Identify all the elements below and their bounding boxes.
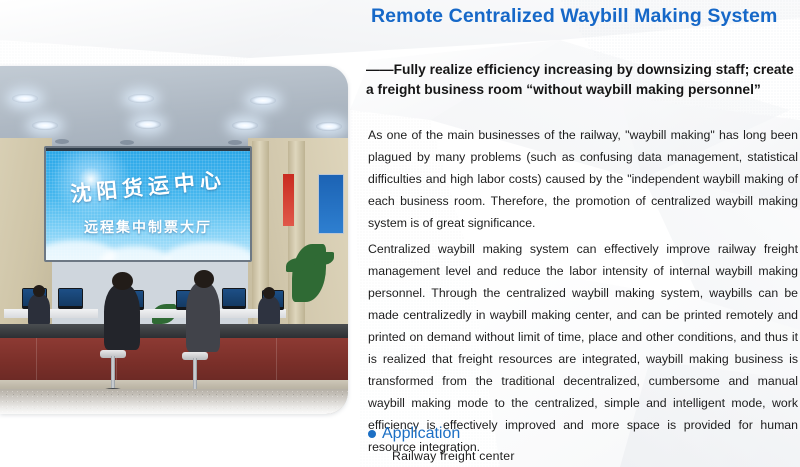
ceiling-light	[250, 96, 276, 105]
body-paragraph-1: As one of the main businesses of the rai…	[368, 124, 798, 234]
stool-pole	[193, 358, 197, 392]
subtitle: ——Fully realize efficiency increasing by…	[366, 60, 800, 99]
staff-head	[33, 285, 45, 297]
ceiling-light	[135, 120, 161, 129]
photo-inner: 沈阳货运中心 远程集中制票大厅	[0, 66, 348, 414]
application-item: Railway freight center	[392, 449, 515, 463]
staff-head	[263, 287, 275, 299]
counter-top	[0, 324, 348, 338]
ceiling-light	[316, 122, 342, 131]
ceiling-vent	[120, 140, 134, 145]
counter-seam	[276, 338, 277, 380]
monitor-screen	[223, 289, 245, 306]
pillar	[288, 141, 305, 346]
ceiling-light	[232, 121, 258, 130]
seated-customer	[104, 284, 140, 350]
monitor	[222, 288, 246, 309]
wall-poster	[318, 174, 344, 234]
seated-customer	[186, 282, 220, 352]
counter-seam	[36, 338, 37, 380]
stool-pole	[111, 356, 115, 390]
ceiling-vent	[55, 139, 69, 144]
red-banner	[283, 174, 294, 226]
application-heading: Application	[368, 425, 460, 443]
ceiling-light	[12, 94, 38, 103]
led-display-frame	[44, 146, 252, 262]
slide-page: 沈阳货运中心 远程集中制票大厅	[0, 0, 800, 467]
inner-desk	[4, 309, 98, 318]
staff-member	[258, 296, 280, 326]
ceiling-light	[128, 94, 154, 103]
content-pane: Remote Centralized Waybill Making System…	[366, 0, 800, 467]
customer-head	[194, 270, 214, 288]
application-heading-label: Application	[382, 425, 460, 443]
page-title: Remote Centralized Waybill Making System	[371, 5, 799, 28]
ceiling-vent	[228, 140, 242, 145]
monitor-screen	[59, 289, 82, 306]
office-hall-photo: 沈阳货运中心 远程集中制票大厅	[0, 66, 348, 414]
ceiling-light	[32, 121, 58, 130]
counter-front	[0, 338, 348, 380]
customer-head	[112, 272, 133, 290]
bullet-dot-icon	[368, 430, 376, 438]
monitor	[58, 288, 83, 309]
staff-member	[28, 294, 50, 326]
photo-bottom-fade	[0, 388, 348, 414]
